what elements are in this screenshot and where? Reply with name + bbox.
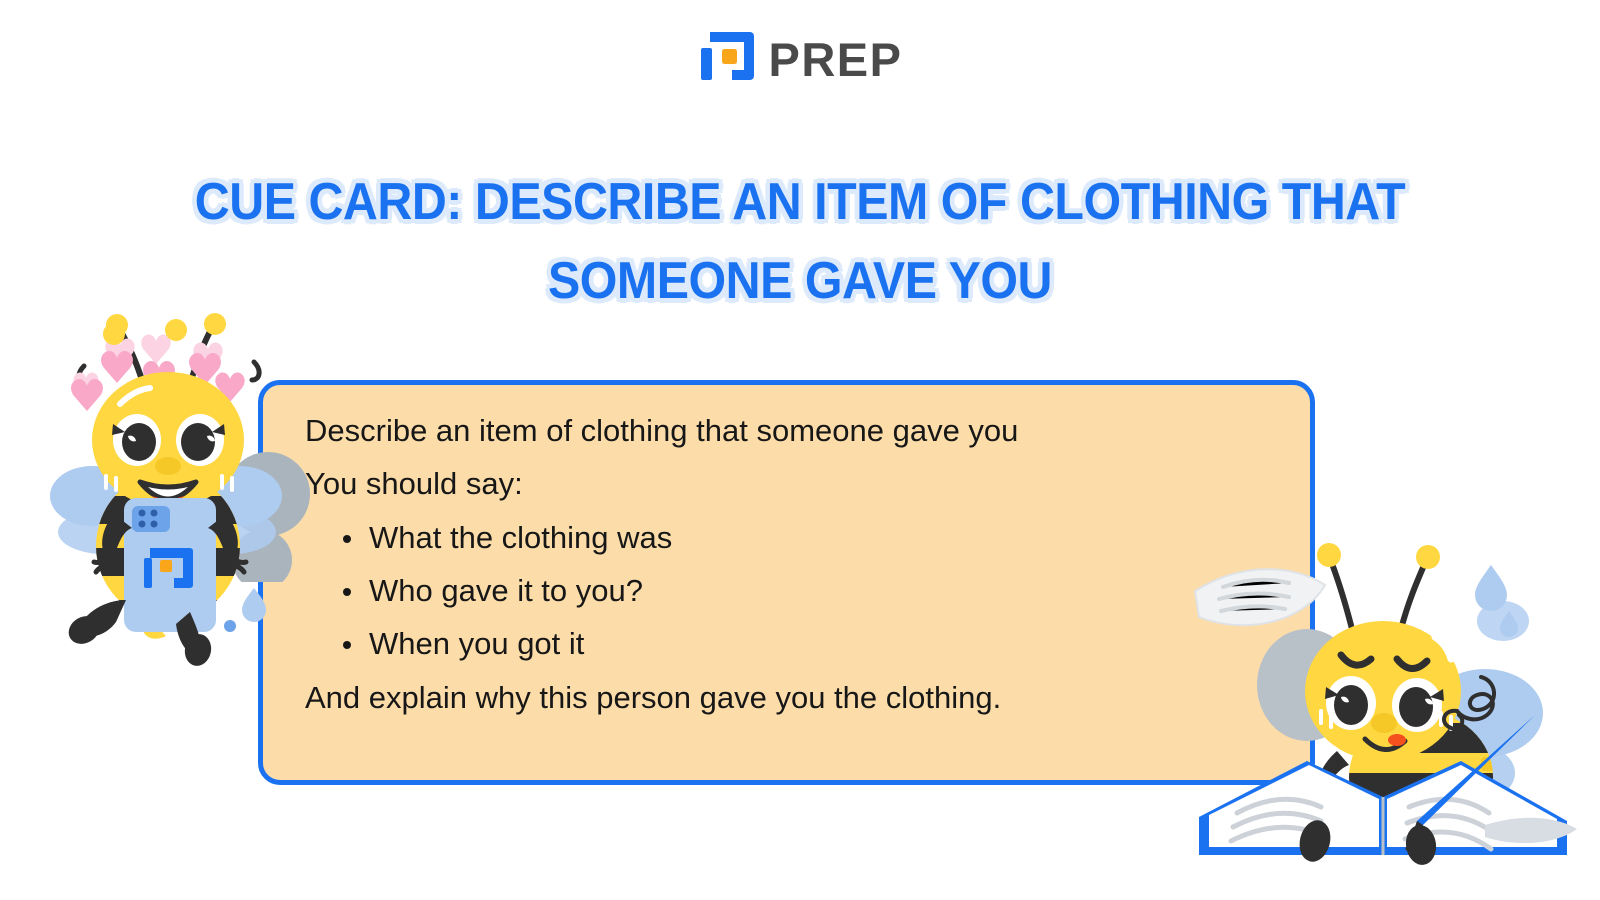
page-title: CUE CARD: DESCRIBE AN ITEM OF CLOTHING T…	[112, 163, 1488, 321]
cue-card-body: Describe an item of clothing that someon…	[305, 404, 1265, 724]
decor-droplets	[224, 588, 266, 632]
cue-card-bullet-list: What the clothing was Who gave it to you…	[305, 511, 1265, 671]
bee-reading-book-svg	[1185, 525, 1600, 855]
list-item: When you got it	[369, 617, 1265, 670]
antenna-tip-left	[1317, 543, 1341, 567]
bee-with-phone-mascot	[40, 300, 300, 650]
bee-head	[92, 372, 244, 508]
paper-sheet	[1195, 569, 1325, 625]
brand-wordmark: PREP	[769, 36, 903, 83]
antenna-tip-right	[1416, 545, 1440, 569]
bee-with-phone-svg	[40, 300, 300, 650]
list-item: What the clothing was	[369, 511, 1265, 564]
prep-logo-mark-svg	[698, 30, 756, 88]
cue-card-instruction: You should say:	[305, 457, 1265, 510]
cue-card-prompt: Describe an item of clothing that someon…	[305, 404, 1265, 457]
cue-card-closing: And explain why this person gave you the…	[305, 671, 1265, 724]
antenna-tip-right	[204, 313, 226, 335]
bee-phone	[124, 498, 216, 632]
bee-head	[1305, 621, 1461, 761]
bee-reading-book-mascot	[1185, 525, 1600, 855]
brand-logo: PREP	[0, 26, 1600, 92]
prep-logo-mark	[698, 30, 756, 88]
list-item: Who gave it to you?	[369, 564, 1265, 617]
cue-card: Describe an item of clothing that someon…	[258, 380, 1315, 785]
